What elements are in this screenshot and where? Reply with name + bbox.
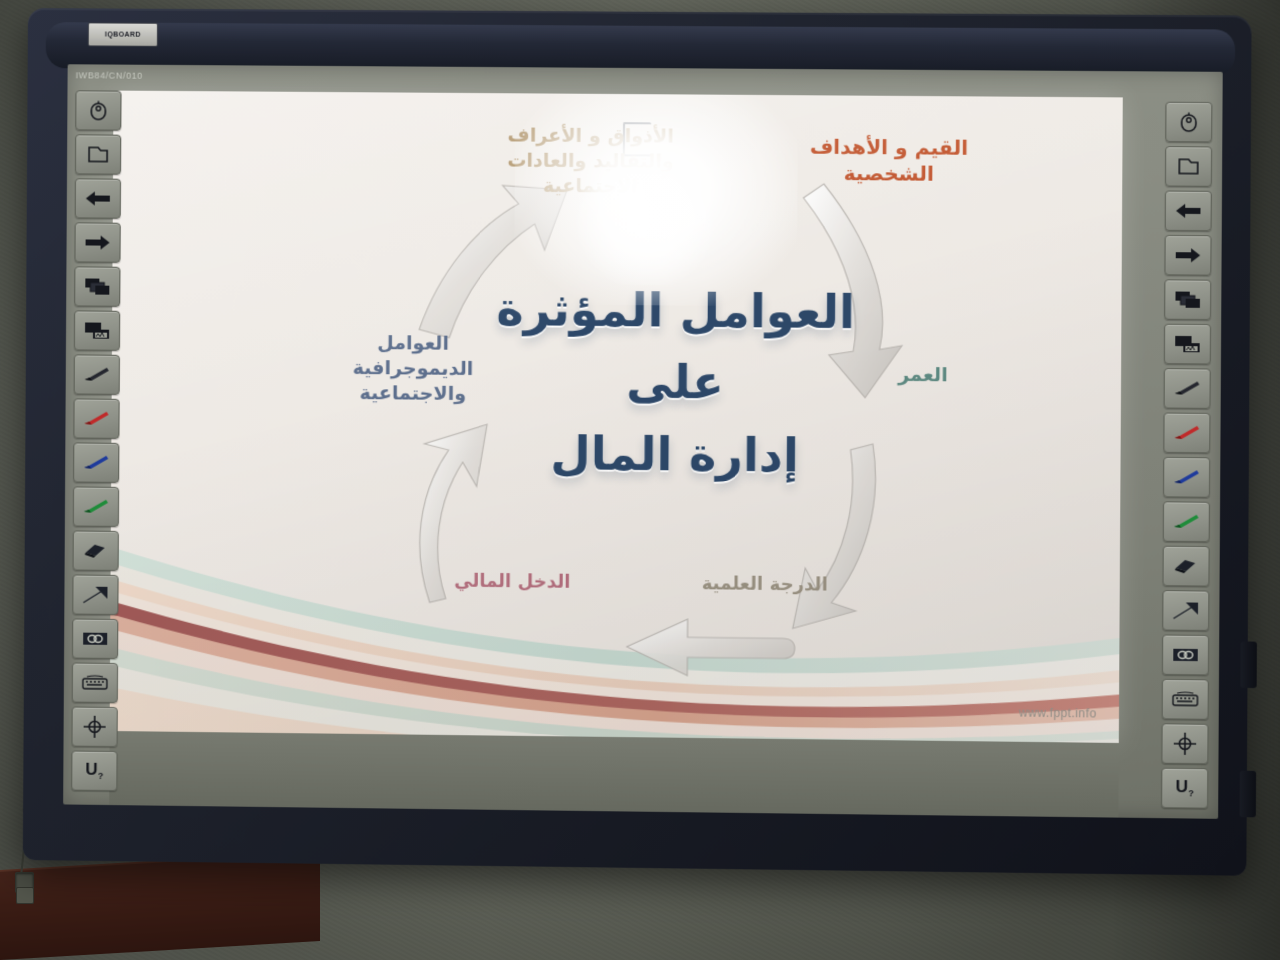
spotlight-icon[interactable] — [1162, 635, 1209, 676]
keyboard-icon[interactable] — [1162, 679, 1209, 720]
label-demographic-social-factors: العوامل الديموجرافية والاجتماعية — [312, 330, 514, 407]
pen-red-icon[interactable] — [73, 398, 119, 438]
toolbar-left: U? — [71, 90, 121, 791]
label-values-and-goals: القيم و الأهداف الشخصية — [757, 133, 1021, 188]
pen-blue-icon[interactable] — [1163, 457, 1210, 498]
label-customs-and-traditions: الأذواق و الأعراف والتقاليد والعادات الا… — [444, 123, 737, 201]
mouse-icon[interactable] — [1165, 102, 1212, 143]
brand-logo-label: IQBOARD — [88, 22, 158, 46]
help-glyph-sub: ? — [98, 771, 104, 781]
help-glyph-letter: U — [1176, 777, 1189, 796]
decorative-waves — [110, 451, 1121, 743]
arrow-left-icon[interactable] — [1165, 191, 1212, 232]
pen-black-icon[interactable] — [1164, 368, 1211, 409]
pen-red-icon[interactable] — [1163, 413, 1210, 454]
arrow-left-icon[interactable] — [75, 178, 121, 218]
pen-blue-icon[interactable] — [73, 442, 119, 482]
help-glyph-letter: U — [85, 760, 97, 779]
line-tool-icon[interactable] — [72, 574, 118, 615]
pen-green-icon[interactable] — [1163, 501, 1210, 542]
pen-black-icon[interactable] — [74, 354, 120, 394]
projected-slide: العوامل المؤثرة على إدارة المال القيم و … — [110, 91, 1123, 743]
board-lower-area — [109, 731, 1119, 818]
pen-green-icon[interactable] — [73, 486, 119, 526]
spotlight-icon[interactable] — [72, 618, 118, 659]
wall-outlet-lower — [16, 887, 34, 904]
label-financial-income: الدخل المالي — [412, 569, 614, 595]
layers-icon[interactable] — [1164, 279, 1211, 320]
arrow-right-icon[interactable] — [74, 222, 120, 262]
layers-icon[interactable] — [74, 266, 120, 306]
help-icon[interactable]: U? — [71, 751, 117, 792]
arrow-right-icon[interactable] — [1164, 235, 1211, 276]
page-icon[interactable] — [75, 134, 121, 174]
interactive-whiteboard: IQBOARD IWB84/CN/010 — [23, 8, 1252, 876]
mouse-icon[interactable] — [75, 90, 121, 130]
eraser-icon[interactable] — [73, 530, 119, 571]
keyboard-icon[interactable] — [72, 663, 118, 704]
screen-capture-icon[interactable] — [74, 310, 120, 350]
model-number-label: IWB84/CN/010 — [76, 70, 143, 80]
toolbar-right: U? — [1161, 102, 1212, 809]
wall-bracket-lower — [1240, 771, 1257, 818]
slide-watermark: www.fppt.info — [1019, 706, 1097, 721]
page-icon[interactable] — [1165, 146, 1212, 187]
label-age: العمر — [837, 362, 1010, 389]
calibrate-icon[interactable] — [71, 707, 117, 748]
label-academic-degree: الدرجة العلمية — [653, 572, 876, 598]
help-glyph-sub: ? — [1188, 788, 1194, 798]
room-scene: IQBOARD IWB84/CN/010 — [0, 0, 1280, 960]
wall-bracket-upper — [1240, 641, 1257, 688]
help-icon[interactable]: U? — [1161, 768, 1208, 809]
line-tool-icon[interactable] — [1162, 590, 1209, 631]
calibrate-icon[interactable] — [1161, 723, 1208, 764]
screen-capture-icon[interactable] — [1164, 324, 1211, 365]
eraser-icon[interactable] — [1163, 546, 1210, 587]
